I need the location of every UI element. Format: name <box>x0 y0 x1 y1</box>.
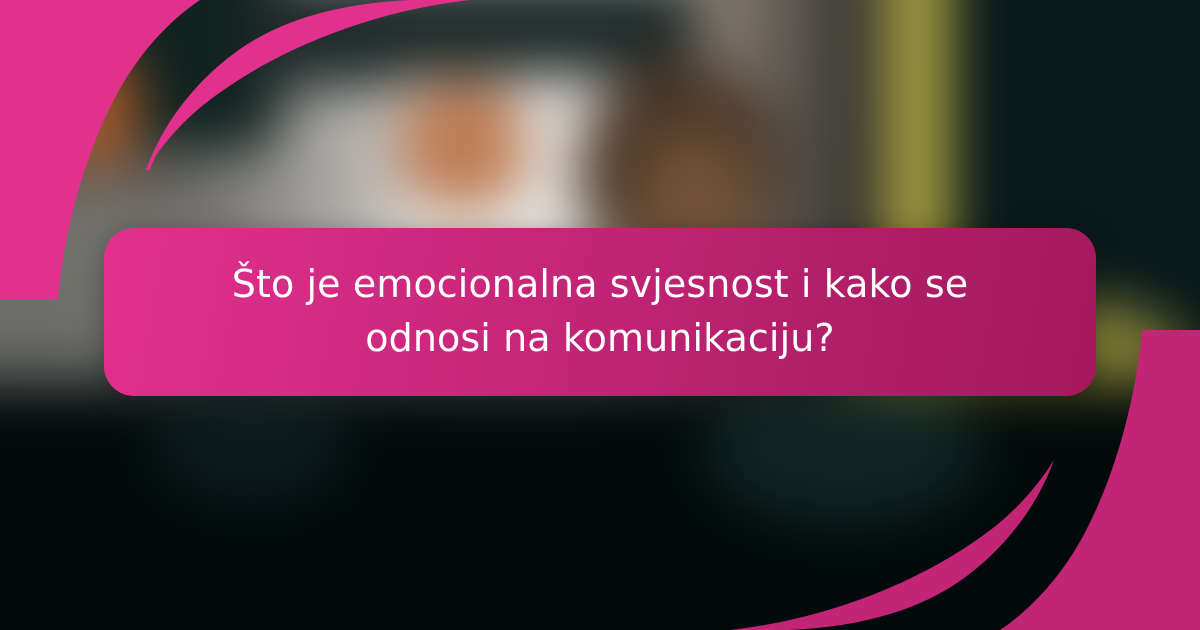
quote-card: Što je emocionalna svjesnost i kako se o… <box>104 228 1096 396</box>
quote-text: Što je emocionalna svjesnost i kako se o… <box>165 258 1035 366</box>
background-glow-left-shape <box>155 384 346 501</box>
background-orange-right-shape <box>399 82 526 209</box>
background-orange-left-shape <box>49 45 139 172</box>
quote-card-image: Što je emocionalna svjesnost i kako se o… <box>0 0 1200 630</box>
background-monitor-shape <box>0 0 282 151</box>
